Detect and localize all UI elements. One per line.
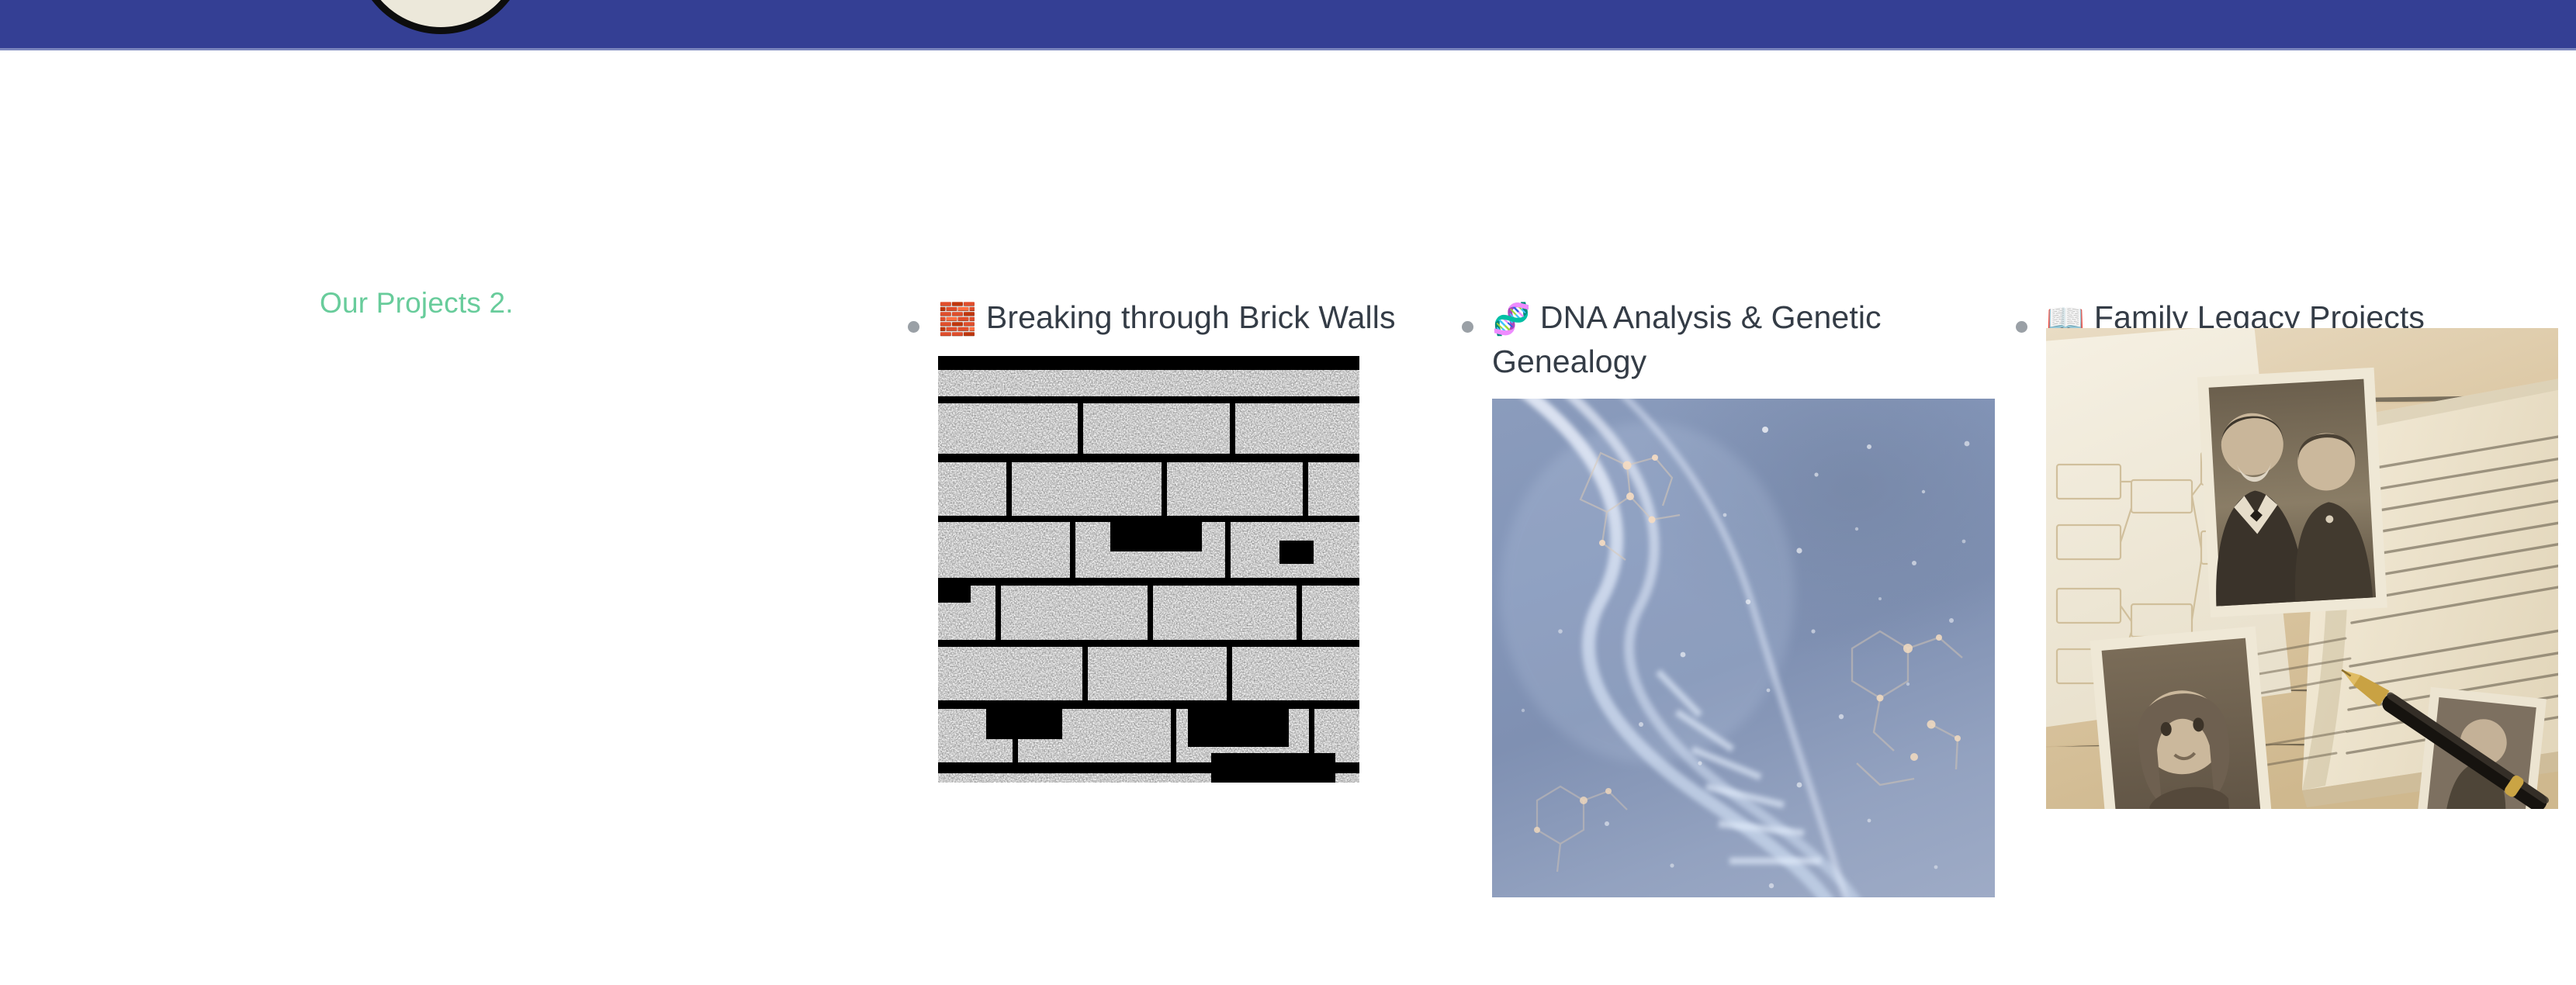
family-legacy-art [2046, 328, 2558, 809]
project-title: 🧬DNA Analysis & Genetic Genealogy [1492, 296, 2016, 383]
site-logo[interactable] [354, 0, 528, 50]
dna-emoji: 🧬 [1492, 302, 1531, 337]
list-item[interactable]: 📖Family Legacy Projects [2016, 296, 2560, 809]
tree-roots-icon [361, 0, 521, 27]
project-title-text: Breaking through Brick Walls [986, 299, 1396, 335]
list-item-body: 📖Family Legacy Projects [2046, 296, 2560, 809]
brick-wall-svg [938, 356, 1359, 783]
projects-list: 🧱Breaking through Brick Walls [908, 296, 2560, 897]
family-legacy-svg [2046, 328, 2558, 809]
list-item[interactable]: 🧱Breaking through Brick Walls [908, 296, 1462, 783]
dna-helix-photo[interactable] [1492, 399, 1995, 897]
brick-emoji: 🧱 [938, 302, 977, 337]
list-bullet-icon [2016, 321, 2027, 333]
brick-wall-texture [938, 356, 1359, 783]
list-item[interactable]: 🧬DNA Analysis & Genetic Genealogy [1462, 296, 2016, 897]
list-bullet-icon [908, 321, 919, 333]
dna-helix-art [1492, 399, 1995, 897]
list-item-body: 🧬DNA Analysis & Genetic Genealogy [1492, 296, 2016, 897]
list-bullet-icon [1462, 321, 1473, 333]
project-title: 🧱Breaking through Brick Walls [938, 296, 1462, 340]
page-title: Our Projects 2. [320, 285, 514, 321]
family-legacy-photo[interactable] [2046, 328, 2558, 809]
logo-circle-badge [354, 0, 528, 34]
project-title-text: DNA Analysis & Genetic Genealogy [1492, 299, 1882, 379]
list-item-body: 🧱Breaking through Brick Walls [938, 296, 1462, 783]
page-root: Our Projects 2. 🧱Breaking through Brick … [0, 0, 2576, 985]
brick-wall-photo[interactable] [938, 356, 1359, 783]
dna-helix-svg [1492, 399, 1995, 897]
